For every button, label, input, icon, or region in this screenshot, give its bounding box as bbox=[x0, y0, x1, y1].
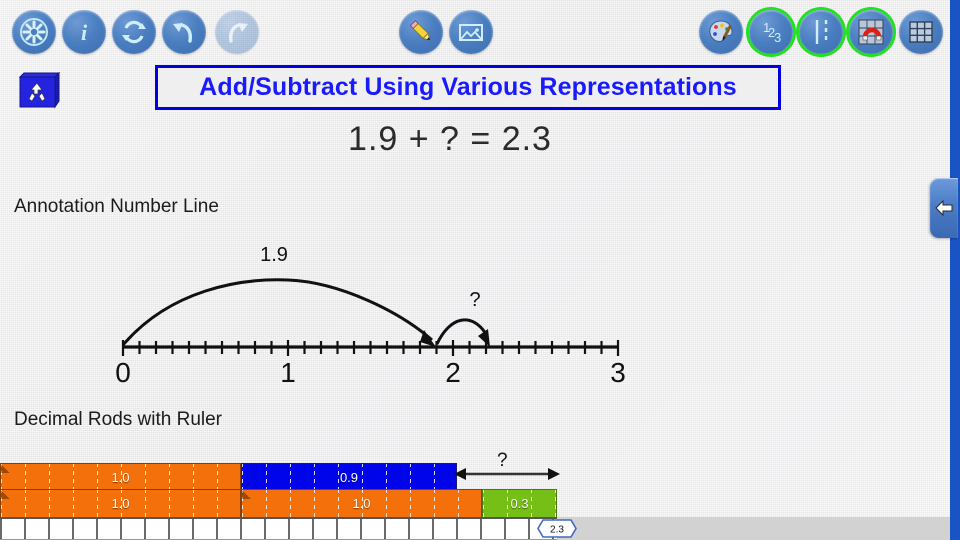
grid-icon[interactable] bbox=[899, 10, 943, 54]
recycle-bin-icon[interactable] bbox=[17, 69, 62, 109]
rod-label: 1.0 bbox=[352, 496, 370, 511]
refresh-icon[interactable] bbox=[112, 10, 156, 54]
equation-text: 1.9 + ? = 2.3 bbox=[0, 120, 900, 159]
rod-row1-orange-1[interactable]: 1.0 bbox=[0, 463, 241, 492]
rod-label: 1.0 bbox=[111, 470, 129, 485]
svg-text:3: 3 bbox=[774, 30, 781, 45]
whiteboard-canvas: i bbox=[0, 0, 960, 540]
svg-text:?: ? bbox=[469, 289, 480, 311]
right-panel-toggle[interactable] bbox=[930, 178, 958, 238]
svg-text:2: 2 bbox=[445, 357, 461, 388]
pencil-icon[interactable] bbox=[399, 10, 443, 54]
ruler-widget[interactable] bbox=[0, 517, 557, 540]
rod-label: 1.0 bbox=[111, 496, 129, 511]
ruler-value-text: 2.3 bbox=[550, 525, 564, 536]
undo-arrow-icon[interactable] bbox=[162, 10, 206, 54]
info-icon[interactable]: i bbox=[62, 10, 106, 54]
page-title: Add/Subtract Using Various Representatio… bbox=[199, 73, 737, 102]
redo-arrow-icon[interactable] bbox=[215, 10, 259, 54]
magnet-grid-icon[interactable] bbox=[849, 10, 893, 54]
rod-row1-blue-1[interactable]: 0.9 bbox=[241, 463, 457, 492]
rod-corner bbox=[1, 490, 10, 499]
gap-question-label: ? bbox=[497, 450, 508, 472]
rod-corner bbox=[1, 464, 10, 473]
image-icon[interactable] bbox=[449, 10, 493, 54]
rods-section-label: Decimal Rods with Ruler bbox=[14, 409, 222, 431]
asterisk-star-icon[interactable] bbox=[12, 10, 56, 54]
svg-text:3: 3 bbox=[610, 357, 626, 388]
svg-text:i: i bbox=[81, 20, 88, 45]
right-edge-strip bbox=[950, 0, 960, 540]
numberline-section-label: Annotation Number Line bbox=[14, 196, 219, 218]
rod-corner bbox=[242, 490, 251, 499]
ruler-value-badge[interactable]: 2.3 bbox=[537, 519, 577, 538]
rod-row2-orange-2[interactable]: 1.0 bbox=[241, 489, 482, 518]
arrow-left-icon bbox=[934, 199, 954, 217]
rod-row2-orange-1[interactable]: 1.0 bbox=[0, 489, 241, 518]
dashed-road-icon[interactable] bbox=[799, 10, 843, 54]
svg-text:1: 1 bbox=[280, 357, 296, 388]
number-line-widget[interactable]: 1.9 ? 0 1 2 3 bbox=[0, 230, 700, 390]
paint-palette-icon[interactable] bbox=[699, 10, 743, 54]
rod-label: 0.9 bbox=[340, 470, 358, 485]
svg-text:0: 0 bbox=[115, 357, 131, 388]
number-123-icon[interactable]: 1 2 3 bbox=[749, 10, 793, 54]
svg-text:1.9: 1.9 bbox=[260, 244, 288, 266]
rod-label: 0.3 bbox=[510, 496, 528, 511]
rod-row2-green-1[interactable]: 0.3 bbox=[482, 489, 557, 518]
page-title-box[interactable]: Add/Subtract Using Various Representatio… bbox=[155, 65, 781, 110]
